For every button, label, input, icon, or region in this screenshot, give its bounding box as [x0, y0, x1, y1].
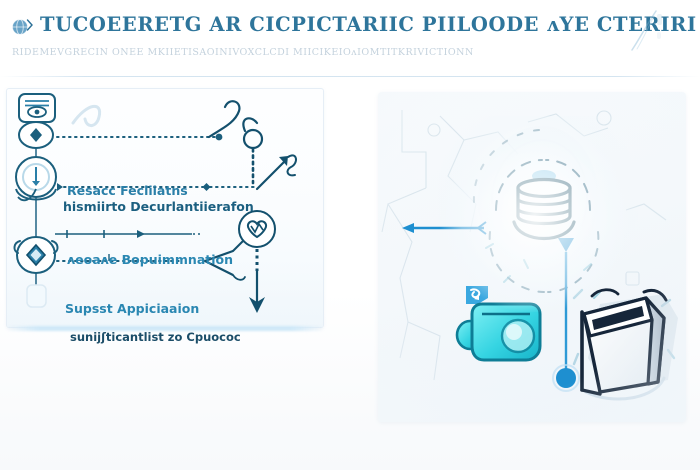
scene-diagram [378, 92, 686, 422]
page-title: TUCOEERETG AR CICPICTARIIC PIILOODE ʌYE … [40, 13, 680, 36]
node-gear-diamond [14, 237, 57, 273]
system-scene-panel [378, 92, 686, 422]
node-document-scan [19, 94, 55, 122]
flow-label-2: hismiirto Decurlantiierafon [63, 199, 254, 214]
decorative-scribble-icon [626, 8, 666, 54]
ghost-node [27, 285, 46, 307]
header: TUCOEERETG AR CICPICTARIIC PIILOODE ʌYE … [0, 0, 700, 80]
illustration-canvas: TUCOEERETG AR CICPICTARIIC PIILOODE ʌYE … [0, 0, 700, 470]
globe-network-icon [10, 16, 36, 40]
process-flow-panel: Resacc Fecliiatns hismiirto Decurlantiie… [6, 88, 324, 328]
flow-label-3: ʌeoaʌe Bopuimmnation [67, 252, 233, 267]
flow-label-4: Supsst Appiciaaion [65, 301, 199, 316]
header-divider [0, 76, 700, 77]
flow-label-5: sunijʃticantlist zo Cpuococ [70, 330, 241, 344]
node-diamond [19, 122, 53, 148]
page-subtitle: RIDEMEVGRECIN ONEE MKIIETISAOINIVOXCLCDI… [12, 47, 672, 58]
flow-label-1: Resacc Fecliiatns [67, 183, 188, 198]
